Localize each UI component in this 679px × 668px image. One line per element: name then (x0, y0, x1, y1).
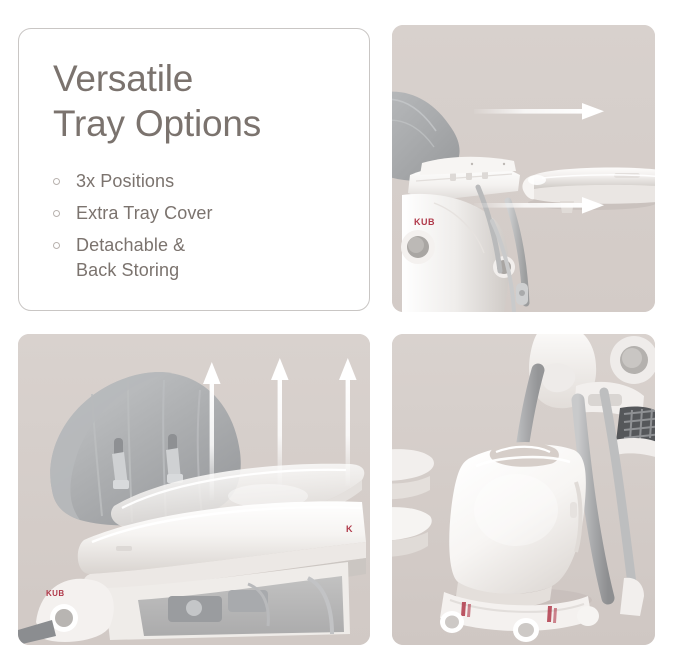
bullet-label: Extra Tray Cover (76, 201, 213, 226)
headline-line-1: Versatile (53, 56, 353, 101)
high-chair-tray-detach-image: KUB (392, 25, 655, 312)
bullet-label: 3x Positions (76, 169, 174, 194)
bullet-label: Detachable & (76, 233, 185, 258)
svg-text:KUB: KUB (414, 217, 435, 227)
svg-text:KUB: KUB (46, 589, 65, 598)
back-storing-photo (392, 334, 655, 645)
page-title: Versatile Tray Options (53, 56, 353, 146)
high-chair-back-storing-image (392, 334, 655, 645)
high-chair-tray-cover-image: KUB K (18, 334, 370, 645)
bullet-circle-icon (53, 178, 60, 185)
list-item: 3x Positions (53, 169, 353, 194)
bullet-circle-icon (53, 242, 60, 249)
svg-text:K: K (346, 524, 353, 534)
detachable-tray-photo: KUB (392, 25, 655, 312)
bullet-label-group: Detachable & Back Storing (76, 233, 185, 283)
headline-line-2: Tray Options (53, 101, 353, 146)
list-item: Detachable & Back Storing (53, 233, 353, 283)
list-item: Extra Tray Cover (53, 201, 353, 226)
feature-text-card: Versatile Tray Options 3x Positions Extr… (18, 28, 370, 311)
feature-bullet-list: 3x Positions Extra Tray Cover Detachable… (53, 169, 353, 290)
bullet-label-continued: Back Storing (76, 258, 185, 283)
tray-cover-photo: KUB K (18, 334, 370, 645)
bullet-circle-icon (53, 210, 60, 217)
infographic-stage: Versatile Tray Options 3x Positions Extr… (0, 0, 679, 668)
